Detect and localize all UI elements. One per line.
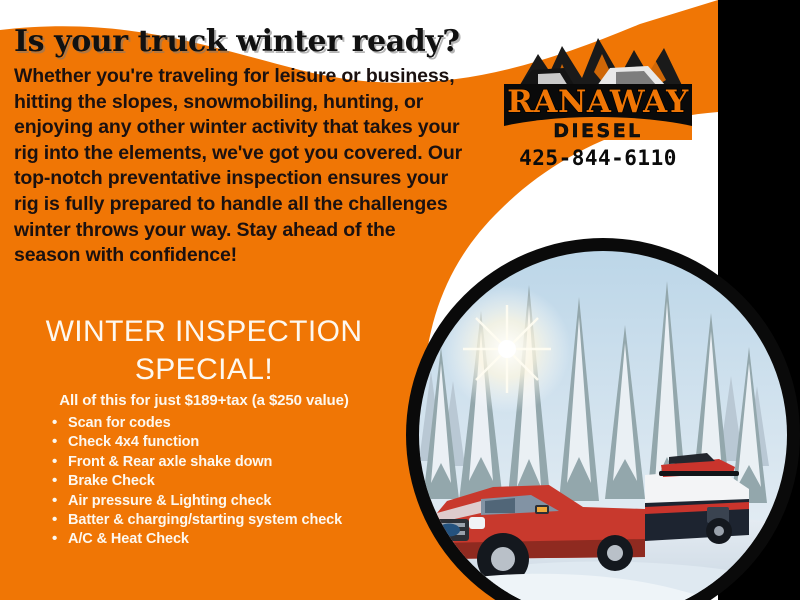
logo-subbrand-text: DIESEL [498, 120, 698, 142]
list-item: Check 4x4 function [52, 433, 472, 452]
ranaway-diesel-logo: RANAWAY DIESEL 425-844-6110 [498, 28, 698, 173]
list-item: Batter & charging/starting system check [52, 511, 472, 530]
promo-title: WINTER INSPECTION SPECIAL! [14, 313, 394, 389]
winter-truck-photo [419, 251, 787, 600]
logo-brand-text: RANAWAY [498, 84, 698, 120]
promo-service-list: Scan for codes Check 4x4 function Front … [52, 414, 472, 550]
list-item: Front & Rear axle shake down [52, 453, 472, 472]
list-item: Brake Check [52, 472, 472, 491]
list-item: Scan for codes [52, 414, 472, 433]
list-item: A/C & Heat Check [52, 530, 472, 549]
flyer-poster: Is your truck winter ready? Whether you'… [0, 0, 800, 600]
logo-phone-number: 425-844-6110 [498, 146, 698, 170]
page-title: Is your truck winter ready? [14, 26, 544, 58]
body-copy: Whether you're traveling for leisure or … [14, 64, 466, 269]
promo-subtitle: All of this for just $189+tax (a $250 va… [14, 392, 394, 409]
list-item: Air pressure & Lighting check [52, 492, 472, 511]
